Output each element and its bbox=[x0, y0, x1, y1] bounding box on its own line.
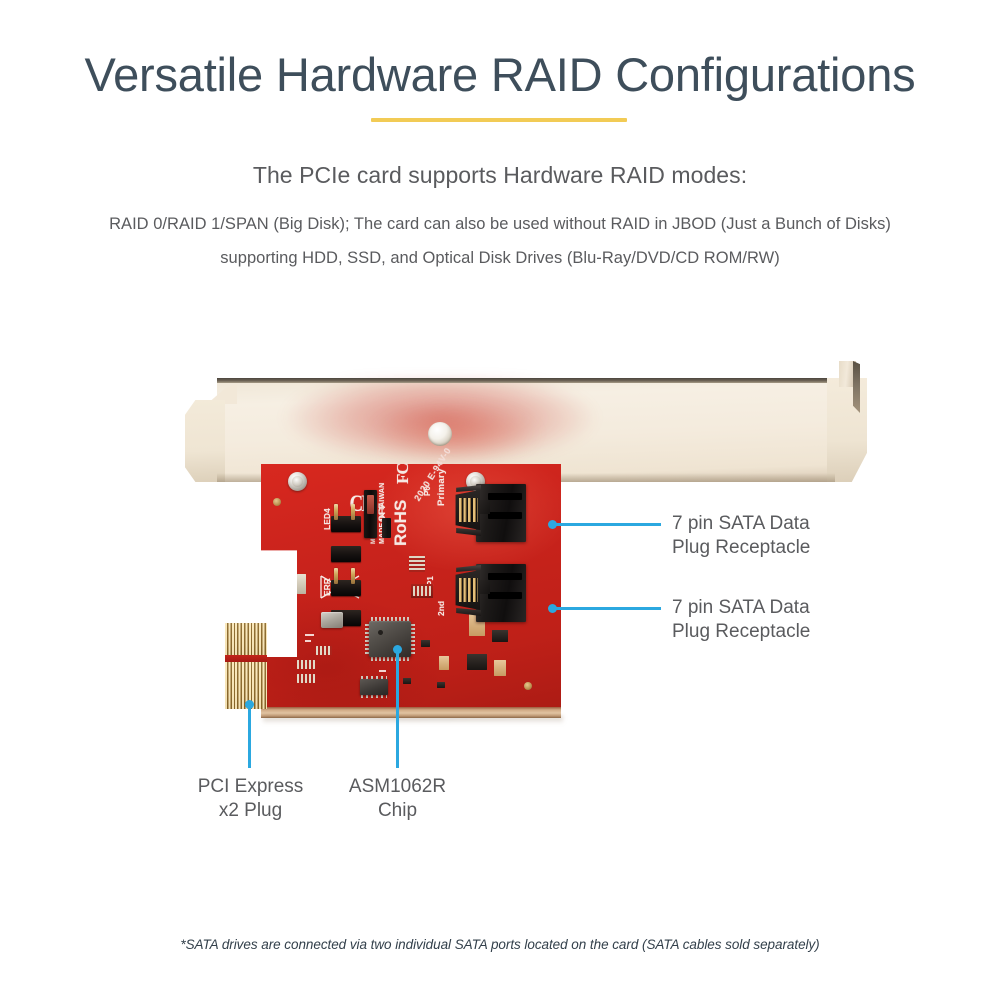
silkscreen-tick bbox=[305, 634, 314, 636]
callout-label-sata-bottom: 7 pin SATA Data Plug Receptacle bbox=[672, 596, 810, 645]
callout-label-sata-top: 7 pin SATA Data Plug Receptacle bbox=[672, 512, 810, 561]
page-title: Versatile Hardware RAID Configurations bbox=[0, 49, 1000, 102]
bracket-pcb-glow bbox=[275, 379, 605, 465]
silkscreen-led4: LED4 bbox=[323, 508, 332, 530]
soic-pins-bottom bbox=[361, 694, 387, 698]
silkscreen-err: ERR bbox=[323, 578, 332, 596]
silkscreen-rohs-mark: RoHS bbox=[392, 500, 409, 546]
silkscreen-part-no: M5A-00S bbox=[371, 515, 378, 544]
header-pin bbox=[334, 504, 338, 520]
pcb-via-right bbox=[524, 682, 532, 690]
silkscreen-ce-mark: CE bbox=[350, 492, 373, 515]
resistor-network bbox=[297, 660, 315, 669]
card-drop-shadow bbox=[250, 714, 580, 726]
sata-slot-lower bbox=[488, 592, 522, 599]
silkscreen-date-code: 2020 E-94V-0 bbox=[413, 446, 453, 503]
sata-gold-contacts bbox=[454, 490, 480, 530]
callout-line-2: Plug Receptacle bbox=[672, 620, 810, 644]
callout-line-2: x2 Plug bbox=[178, 799, 323, 823]
pin-header-led4-a bbox=[331, 516, 361, 532]
sata-key-notch bbox=[476, 580, 490, 594]
smd-pad-white bbox=[297, 574, 306, 594]
header-pin bbox=[351, 568, 355, 584]
dip-switch-second bbox=[382, 518, 391, 538]
callout-line-sata-top bbox=[556, 523, 661, 526]
silkscreen-tick bbox=[457, 598, 465, 600]
callout-line-1: 7 pin SATA Data bbox=[672, 512, 810, 536]
pcb-screw-left bbox=[288, 472, 307, 491]
chip-pins-right bbox=[410, 624, 415, 654]
smd-mosfet bbox=[467, 654, 487, 670]
product-photo: CE FC RoHS MADE IN TAIWAN M5A-00S 2020 E… bbox=[0, 0, 1000, 1000]
pcb-edge-shadow bbox=[263, 716, 563, 724]
bracket-right-step bbox=[827, 378, 867, 482]
bracket-right-tab-edge bbox=[853, 361, 860, 413]
bracket-right-tab bbox=[839, 361, 856, 387]
callout-line-sata-bottom bbox=[556, 607, 661, 610]
body-text-line-2: supporting HDD, SSD, and Optical Disk Dr… bbox=[0, 249, 1000, 268]
bracket-pcb-glow-inner bbox=[355, 401, 555, 465]
body-text-line-1: RAID 0/RAID 1/SPAN (Big Disk); The card … bbox=[0, 215, 1000, 234]
bracket-screw-hole bbox=[428, 422, 452, 446]
dip-switch bbox=[364, 490, 377, 538]
pcb-substrate bbox=[261, 464, 561, 718]
circuit-board: CE FC RoHS MADE IN TAIWAN M5A-00S 2020 E… bbox=[261, 464, 561, 718]
silkscreen-tick bbox=[511, 614, 518, 616]
smd-regulator bbox=[492, 630, 508, 642]
sata-key-notch bbox=[476, 500, 490, 514]
callout-label-chip: ASM1062R Chip bbox=[325, 775, 470, 824]
smd-diode bbox=[494, 660, 506, 676]
sata-top-lip bbox=[454, 485, 481, 492]
pin-header-err-a bbox=[331, 580, 361, 596]
sata-shell bbox=[476, 484, 526, 542]
sata-port-bottom bbox=[454, 564, 526, 622]
pcb-via-left bbox=[273, 498, 281, 506]
pin-header-err-b bbox=[331, 610, 361, 626]
pcb-bottom-edge bbox=[261, 707, 561, 718]
silkscreen-on: ON bbox=[366, 505, 375, 520]
silkscreen-made-in: MADE IN TAIWAN bbox=[379, 483, 386, 544]
crystal-oscillator bbox=[321, 612, 343, 628]
chip-pins-top bbox=[371, 617, 409, 622]
bracket-left-end bbox=[185, 400, 225, 482]
silkscreen-primary: Primary bbox=[437, 469, 447, 506]
pcie-gold-fingers-short bbox=[225, 623, 267, 655]
pcb-screw-right bbox=[466, 472, 485, 491]
callout-line-pcie bbox=[248, 706, 251, 768]
bracket-face bbox=[217, 378, 835, 482]
smd-array bbox=[411, 584, 433, 598]
chip-pins-bottom bbox=[371, 656, 409, 661]
soic-package bbox=[360, 679, 388, 695]
callout-label-pcie: PCI Express x2 Plug bbox=[178, 775, 323, 824]
callout-line-1: 7 pin SATA Data bbox=[672, 596, 810, 620]
callout-line-1: PCI Express bbox=[178, 775, 323, 799]
silkscreen-p1: P1 bbox=[427, 576, 435, 586]
flash-rom-chip bbox=[357, 676, 391, 698]
title-accent-underline bbox=[371, 118, 627, 122]
pin-header-led4-b bbox=[331, 546, 361, 562]
smd-resistor bbox=[421, 640, 430, 647]
sata-bottom-lip bbox=[454, 528, 481, 536]
chip-package bbox=[369, 621, 411, 657]
bracket-bottom-shade bbox=[217, 473, 835, 482]
sata-port-top bbox=[454, 484, 526, 542]
silkscreen-fcc-mark: FC bbox=[394, 463, 411, 484]
footnote: *SATA drives are connected via two indiv… bbox=[0, 937, 1000, 952]
bracket-left-chamfer bbox=[207, 378, 237, 404]
sata-slot-upper bbox=[488, 573, 522, 580]
mounting-bracket bbox=[185, 361, 867, 504]
smd-capacitor bbox=[469, 612, 485, 636]
asm1062r-chip bbox=[364, 616, 416, 662]
pcie-finger-gap bbox=[225, 655, 267, 662]
resistor-network bbox=[297, 674, 315, 683]
header-pin bbox=[334, 568, 338, 584]
silkscreen-tick bbox=[305, 640, 311, 642]
callout-line-1: ASM1062R bbox=[325, 775, 470, 799]
soic-pins-top bbox=[361, 676, 387, 680]
callout-line-2: Plug Receptacle bbox=[672, 536, 810, 560]
smd-inductor bbox=[439, 656, 449, 670]
sata-slot-lower bbox=[488, 512, 522, 519]
infographic-page: Versatile Hardware RAID Configurations T… bbox=[0, 0, 1000, 1000]
sata-top-lip bbox=[454, 565, 481, 572]
sata-gold-contacts bbox=[454, 570, 480, 610]
bracket-top-lip bbox=[217, 378, 835, 383]
smd-resistor bbox=[403, 678, 411, 684]
header-pin bbox=[351, 504, 355, 520]
silkscreen-p0: P0 bbox=[424, 486, 432, 496]
silkscreen-off: OFF bbox=[378, 503, 387, 523]
sata-slot-upper bbox=[488, 493, 522, 500]
resistor-network bbox=[316, 646, 332, 655]
silkscreen-secondary: 2nd bbox=[437, 601, 446, 616]
sata-bottom-lip bbox=[454, 608, 481, 616]
resistor-network bbox=[413, 586, 431, 596]
silkscreen-tick bbox=[379, 670, 386, 672]
subtitle: The PCIe card supports Hardware RAID mod… bbox=[0, 162, 1000, 189]
sata-shell bbox=[476, 564, 526, 622]
silkscreen-antistatic-glyph bbox=[319, 572, 361, 602]
chip-pin1-marker bbox=[378, 630, 383, 635]
smd-resistor bbox=[437, 682, 445, 688]
resistor-network bbox=[409, 556, 425, 572]
chip-pins-left bbox=[365, 624, 370, 654]
callout-line-2: Chip bbox=[325, 799, 470, 823]
callout-line-chip bbox=[396, 650, 399, 768]
